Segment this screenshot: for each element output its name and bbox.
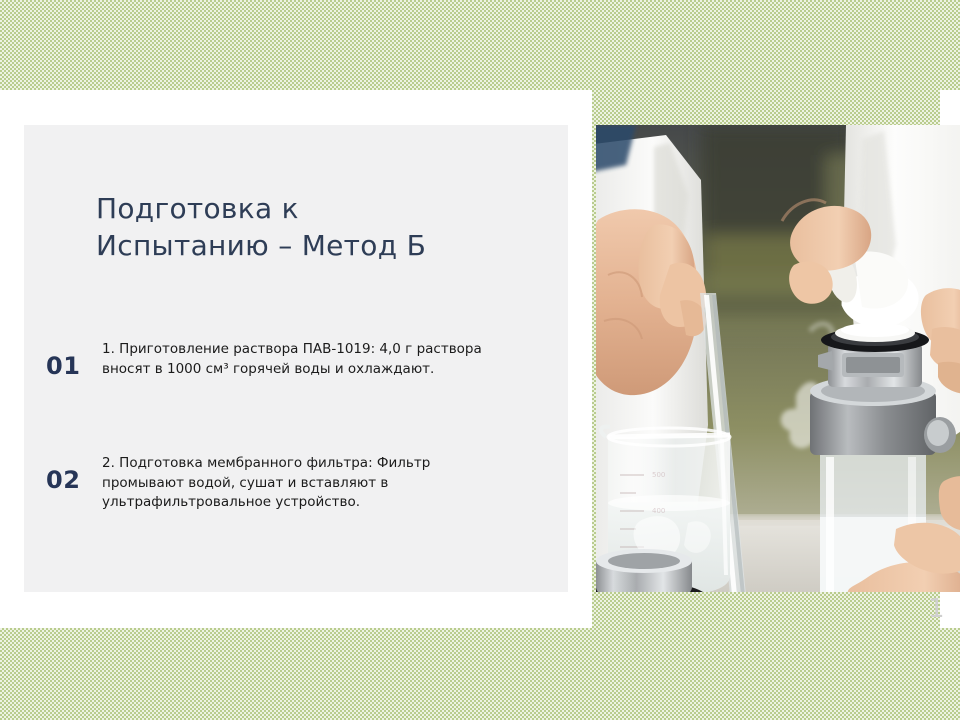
svg-text:500: 500 <box>652 471 665 479</box>
step-number-01: 01 <box>46 338 102 380</box>
page-title: Подготовка к Испытанию – Метод Б <box>96 190 526 264</box>
step-text-01: 1. Приготовление раствора ПАВ-1019: 4,0 … <box>102 338 516 379</box>
photo-illustration: 500400 <box>596 125 960 592</box>
step-number-02: 02 <box>46 452 102 494</box>
slide-canvas: Подготовка к Испытанию – Метод Б 01 1. П… <box>0 0 960 720</box>
list-item: 02 2. Подготовка мембранного фильтра: Фи… <box>46 452 516 513</box>
list-item: 01 1. Приготовление раствора ПАВ-1019: 4… <box>46 338 516 380</box>
step-text-02: 2. Подготовка мембранного фильтра: Фильт… <box>102 452 516 513</box>
laboratory-photo: 500400 <box>596 125 960 592</box>
svg-text:400: 400 <box>652 507 665 515</box>
page-number: 1 <box>928 594 945 624</box>
